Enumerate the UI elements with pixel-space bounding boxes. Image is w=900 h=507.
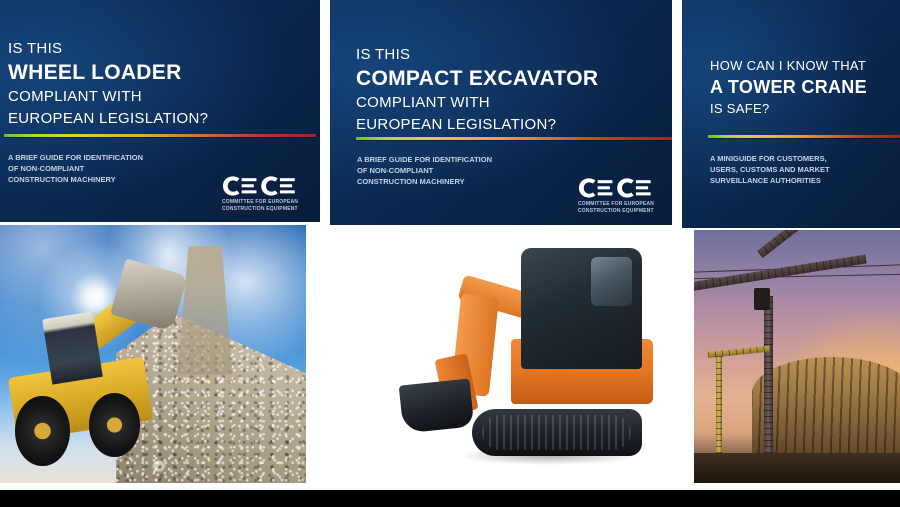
subtitle-line-2: OF NON-COMPLIANT	[357, 166, 492, 177]
cover-header-tower-crane: HOW CAN I KNOW THAT A TOWER CRANE IS SAF…	[682, 0, 900, 228]
brochure-gallery: IS THIS WHEEL LOADER COMPLIANT WITH EURO…	[0, 0, 900, 507]
cece-wordmark-icon	[222, 176, 310, 196]
cover-title-tower-crane: HOW CAN I KNOW THAT A TOWER CRANE IS SAF…	[710, 56, 867, 118]
subtitle-line-3: CONSTRUCTION MACHINERY	[8, 175, 143, 186]
title-line-4: EUROPEAN LEGISLATION?	[8, 108, 208, 130]
excavator-shadow	[461, 446, 636, 466]
subtitle-line-1: A BRIEF GUIDE FOR IDENTIFICATION	[8, 153, 143, 164]
cece-logo: COMMITTEE FOR EUROPEAN CONSTRUCTION EQUI…	[578, 178, 668, 215]
cover-photo-wheel-loader	[0, 225, 306, 483]
crane-counterweight	[754, 288, 770, 310]
excavator-cab	[521, 248, 641, 370]
site-ground	[694, 453, 900, 483]
title-line-4: EUROPEAN LEGISLATION?	[356, 114, 598, 136]
cover-title-wheel-loader: IS THIS WHEEL LOADER COMPLIANT WITH EURO…	[8, 38, 208, 130]
cece-tagline-line-2: CONSTRUCTION EQUIPMENT	[222, 206, 312, 213]
title-line-3: COMPLIANT WITH	[356, 92, 598, 114]
accent-rule	[4, 134, 316, 137]
cece-tagline: COMMITTEE FOR EUROPEAN CONSTRUCTION EQUI…	[222, 199, 312, 213]
title-line-1: IS THIS	[8, 38, 208, 59]
subtitle-line-1: A MINIGUIDE FOR CUSTOMERS,	[710, 154, 830, 165]
excavator-bucket	[399, 379, 475, 434]
cece-logo: COMMITTEE FOR EUROPEAN CONSTRUCTION EQUI…	[222, 176, 312, 213]
title-line-1: IS THIS	[356, 44, 598, 65]
cece-tagline-line-2: CONSTRUCTION EQUIPMENT	[578, 208, 668, 215]
wheel-loader-machine	[12, 315, 171, 459]
cover-header-compact-excavator: IS THIS COMPACT EXCAVATOR COMPLIANT WITH…	[330, 0, 672, 225]
loader-cab	[42, 312, 103, 386]
compact-excavator-machine	[380, 243, 653, 461]
cover-subtitle-wheel-loader: A BRIEF GUIDE FOR IDENTIFICATION OF NON-…	[8, 153, 143, 186]
title-line-2: A TOWER CRANE	[710, 75, 867, 99]
accent-rule	[708, 135, 900, 138]
title-line-2: WHEEL LOADER	[8, 59, 208, 86]
subtitle-line-3: CONSTRUCTION MACHINERY	[357, 177, 492, 188]
brochure-cover-compact-excavator[interactable]: IS THIS COMPACT EXCAVATOR COMPLIANT WITH…	[330, 0, 672, 490]
subtitle-line-1: A BRIEF GUIDE FOR IDENTIFICATION	[357, 155, 492, 166]
cece-tagline-line-1: COMMITTEE FOR EUROPEAN	[222, 199, 312, 206]
title-line-1: HOW CAN I KNOW THAT	[710, 56, 867, 75]
excavator-cab-glass	[591, 257, 632, 306]
cover-photo-tower-crane	[694, 230, 900, 483]
accent-rule	[356, 137, 672, 140]
loader-wheel-rear	[89, 393, 140, 457]
subtitle-line-3: SURVEILLANCE AUTHORITIES	[710, 176, 830, 187]
title-line-3: COMPLIANT WITH	[8, 86, 208, 108]
subtitle-line-2: USERS, CUSTOMS AND MARKET	[710, 165, 830, 176]
cece-tagline: COMMITTEE FOR EUROPEAN CONSTRUCTION EQUI…	[578, 201, 668, 215]
cece-tagline-line-1: COMMITTEE FOR EUROPEAN	[578, 201, 668, 208]
cover-photo-compact-excavator	[347, 228, 672, 481]
brochure-cover-tower-crane[interactable]: HOW CAN I KNOW THAT A TOWER CRANE IS SAF…	[682, 0, 900, 490]
title-line-2: COMPACT EXCAVATOR	[356, 65, 598, 92]
cece-wordmark-icon	[578, 178, 666, 198]
title-line-3: IS SAFE?	[710, 99, 867, 118]
cover-title-compact-excavator: IS THIS COMPACT EXCAVATOR COMPLIANT WITH…	[356, 44, 598, 136]
brochure-cover-wheel-loader[interactable]: IS THIS WHEEL LOADER COMPLIANT WITH EURO…	[0, 0, 320, 490]
cover-subtitle-compact-excavator: A BRIEF GUIDE FOR IDENTIFICATION OF NON-…	[357, 155, 492, 188]
cover-subtitle-tower-crane: A MINIGUIDE FOR CUSTOMERS, USERS, CUSTOM…	[710, 154, 830, 187]
cover-header-wheel-loader: IS THIS WHEEL LOADER COMPLIANT WITH EURO…	[0, 0, 320, 222]
loader-wheel-front	[15, 396, 69, 465]
letterbox-bottom	[0, 490, 900, 507]
subtitle-line-2: OF NON-COMPLIANT	[8, 164, 143, 175]
